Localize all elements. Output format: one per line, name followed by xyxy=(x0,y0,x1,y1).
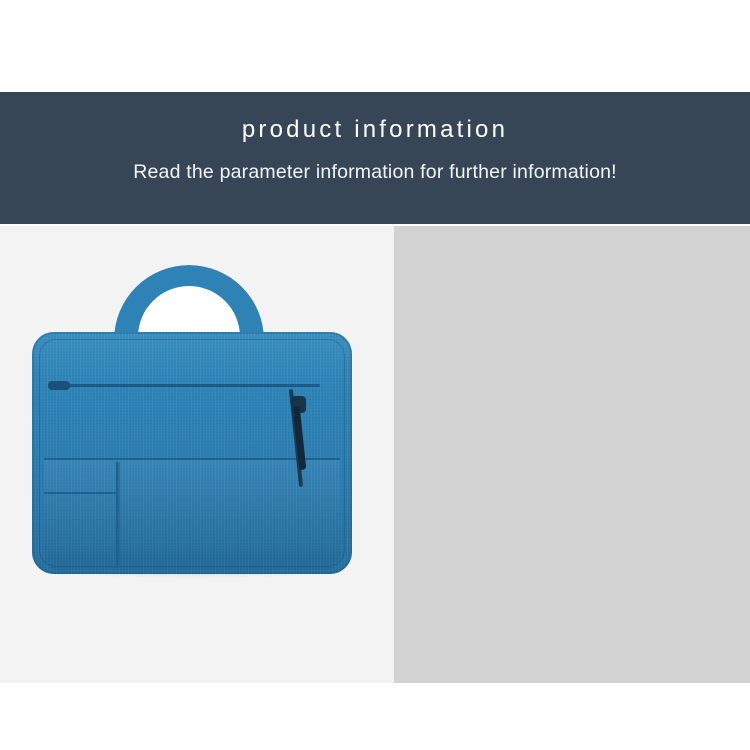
laptop-bag xyxy=(32,332,352,574)
specification-panel: inch external internal weight 11.6 33.5×… xyxy=(394,226,750,683)
bag-illustration xyxy=(0,226,394,683)
product-image-panel xyxy=(0,226,394,683)
banner-title: product information xyxy=(242,117,508,143)
content-area: inch external internal weight 11.6 33.5×… xyxy=(0,226,750,683)
front-pocket-small xyxy=(44,492,116,570)
top-zipper-seam xyxy=(52,384,320,387)
product-information-banner: product information Read the parameter i… xyxy=(0,92,750,224)
top-zipper-tab xyxy=(48,381,70,390)
front-pocket-slot xyxy=(118,462,120,568)
banner-subtitle: Read the parameter information for furth… xyxy=(133,161,617,184)
